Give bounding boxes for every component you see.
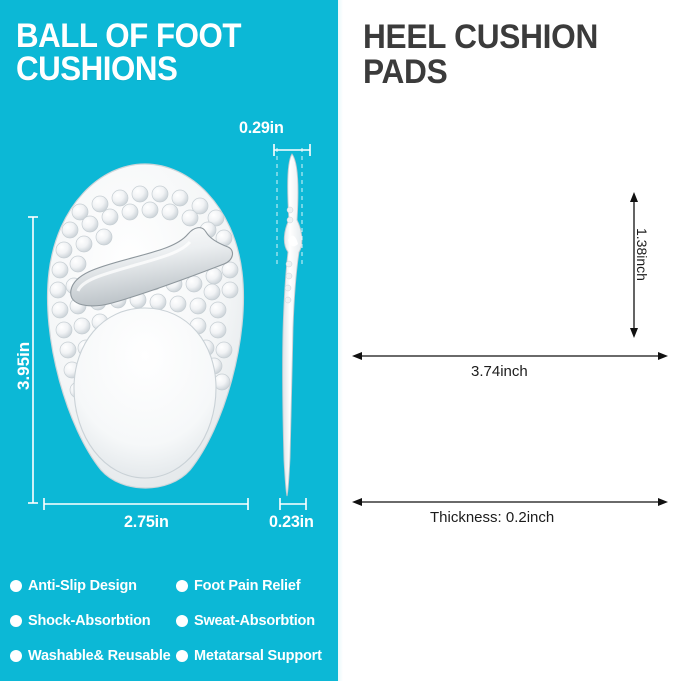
feature-label: Shock-Absorbtion xyxy=(28,613,150,629)
right-panel-title: HEEL CUSHION PADS xyxy=(363,20,642,89)
feature-item-foot-pain-relief: Foot Pain Relief xyxy=(176,578,300,594)
dimension-label-height: 3.95in xyxy=(14,342,34,390)
feature-item-shock-absorbtion: Shock-Absorbtion xyxy=(10,613,150,629)
dimension-label-side-thickness-top: 0.29in xyxy=(239,118,284,138)
ball-of-foot-panel: BALL OF FOOT CUSHIONS xyxy=(0,0,338,681)
dimension-label-side-thickness-bottom: 0.23in xyxy=(269,512,314,532)
dimension-label-thickness: Thickness: 0.2inch xyxy=(430,509,554,526)
feature-label: Metatarsal Support xyxy=(194,648,322,664)
dimension-bracket-width xyxy=(42,498,250,510)
feature-label: Foot Pain Relief xyxy=(194,578,300,594)
left-title-line-1: BALL OF FOOT xyxy=(16,20,301,53)
dimension-bracket-0-29in xyxy=(272,144,312,156)
feature-item-anti-slip: Anti-Slip Design xyxy=(10,578,137,594)
dimension-label-width: 2.75in xyxy=(124,512,169,532)
bullet-icon xyxy=(10,650,22,662)
feature-item-washable-reusable: Washable& Reusable xyxy=(10,648,171,664)
right-title-line-2: PADS xyxy=(363,55,642,90)
dimension-label-heel-height: 1.38inch xyxy=(634,228,650,281)
feature-item-metatarsal-support: Metatarsal Support xyxy=(176,648,322,664)
product-infographic: BALL OF FOOT CUSHIONS xyxy=(0,0,679,681)
dimension-label-heel-width: 3.74inch xyxy=(471,363,528,380)
left-panel-title: BALL OF FOOT CUSHIONS xyxy=(16,20,301,87)
bullet-icon xyxy=(10,615,22,627)
dimension-bracket-0-23in xyxy=(278,498,308,510)
ball-of-foot-cushion-side-view xyxy=(268,148,312,500)
ball-of-foot-cushion-top-view xyxy=(38,160,253,500)
dimension-arrow-thickness xyxy=(350,496,670,508)
dimension-arrow-heel-width xyxy=(350,350,670,362)
left-title-line-2: CUSHIONS xyxy=(16,53,301,86)
left-feature-list: Anti-Slip Design Foot Pain Relief Shock-… xyxy=(0,570,338,681)
feature-label: Anti-Slip Design xyxy=(28,578,137,594)
right-title-line-1: HEEL CUSHION xyxy=(363,20,642,55)
feature-label: Washable& Reusable xyxy=(28,648,171,664)
bullet-icon xyxy=(176,580,188,592)
bullet-icon xyxy=(176,650,188,662)
feature-label: Sweat-Absorbtion xyxy=(194,613,315,629)
heel-cushion-panel: HEEL CUSHION PADS xyxy=(338,0,679,681)
bullet-icon xyxy=(10,580,22,592)
bullet-icon xyxy=(176,615,188,627)
feature-item-sweat-absorbtion: Sweat-Absorbtion xyxy=(176,613,315,629)
